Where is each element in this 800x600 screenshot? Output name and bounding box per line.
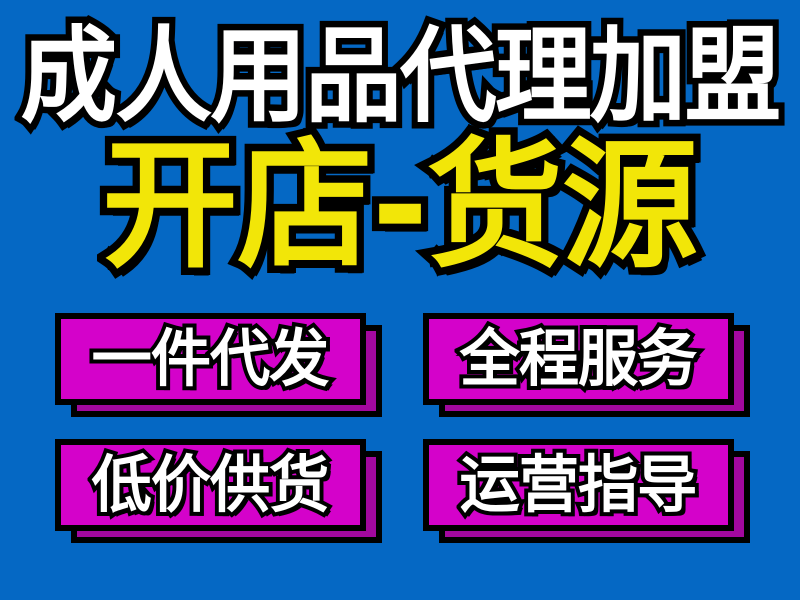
badge-label: 运营指导	[460, 454, 697, 516]
feature-badge[interactable]: 运营指导	[423, 439, 734, 531]
badge-label: 全程服务	[460, 328, 697, 390]
badge-label: 一件代发	[92, 328, 329, 390]
subheadline-row: 开店-货源	[0, 132, 800, 282]
feature-badge[interactable]: 低价供货	[55, 439, 366, 531]
feature-badge-grid: 一件代发 全程服务 低价供货 运营指导	[55, 313, 749, 543]
badge-face[interactable]: 运营指导	[423, 439, 734, 531]
feature-badge[interactable]: 一件代发	[55, 313, 366, 405]
headline-row: 成人用品代理加盟	[0, 20, 800, 132]
page-subtitle: 开店-货源	[103, 137, 698, 277]
badge-face[interactable]: 低价供货	[55, 439, 366, 531]
feature-badge[interactable]: 全程服务	[423, 313, 734, 405]
page-title: 成人用品代理加盟	[21, 24, 780, 128]
badge-label: 低价供货	[92, 454, 329, 516]
promo-poster: 成人用品代理加盟 开店-货源 一件代发 全程服务 低价供货 运营指导	[0, 0, 800, 600]
badge-face[interactable]: 全程服务	[423, 313, 734, 405]
badge-face[interactable]: 一件代发	[55, 313, 366, 405]
